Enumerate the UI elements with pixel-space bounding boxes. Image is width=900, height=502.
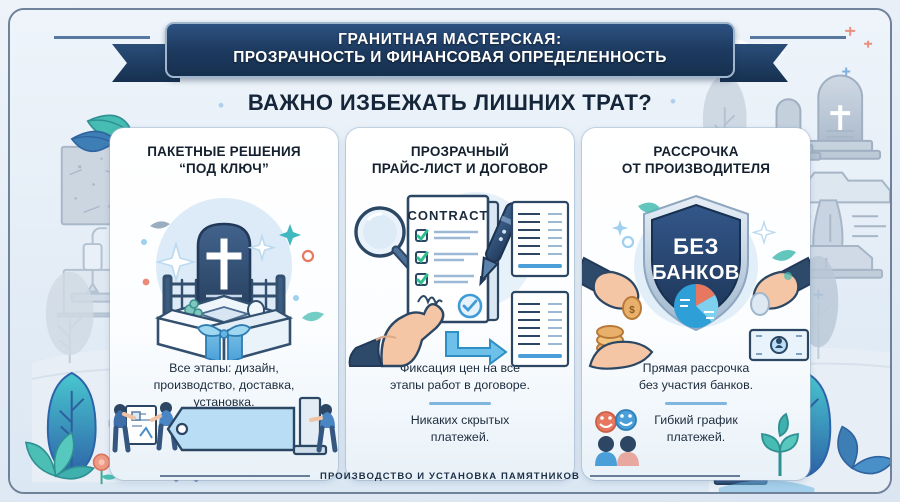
svg-text:$: $	[629, 305, 635, 316]
card-3-illustration: БЕЗ БАНКОВ $	[582, 180, 810, 360]
title-line-2: ПРОЗРАЧНОСТЬ И ФИНАНСОВАЯ ОПРЕДЕЛЕННОСТЬ	[233, 48, 667, 67]
infographic-frame: ГРАНИТНАЯ МАСТЕРСКАЯ: ПРОЗРАЧНОСТЬ И ФИН…	[8, 8, 892, 494]
card-manufacturer-installment[interactable]: РАССРОЧКА ОТ ПРОИЗВОДИТЕЛЯ	[582, 128, 810, 480]
page-subtitle: ВАЖНО ИЗБЕЖАТЬ ЛИШНИХ ТРАТ?	[10, 90, 890, 116]
card-2-illustration: CONTRACT	[346, 180, 574, 360]
card-1-heading: ПАКЕТНЫЕ РЕШЕНИЯ “ПОД КЛЮЧ”	[147, 143, 301, 178]
card-packaged-solutions[interactable]: ПАКЕТНЫЕ РЕШЕНИЯ “ПОД КЛЮЧ”	[110, 128, 338, 480]
avatar-right	[617, 436, 639, 466]
pie-chart	[674, 284, 718, 328]
card-3-divider	[665, 402, 727, 405]
card-2-caption-secondary: Никаких скрытых платежей.	[397, 412, 524, 446]
shield-text-line-1: БЕЗ	[673, 234, 719, 259]
title-ribbon-wrap: ГРАНИТНАЯ МАСТЕРСКАЯ: ПРОЗРАЧНОСТЬ И ФИН…	[10, 16, 890, 84]
ribbon-left-line	[54, 36, 150, 39]
card-2-divider	[429, 402, 491, 405]
card-2-heading: ПРОЗРАЧНЫЙ ПРАЙС-ЛИСТ И ДОГОВОР	[372, 143, 548, 178]
title-line-1: ГРАНИТНАЯ МАСТЕРСКАЯ:	[338, 32, 562, 48]
card-1-illustration	[110, 180, 338, 360]
card-transparent-pricing[interactable]: ПРОЗРАЧНЫЙ ПРАЙС-ЛИСТ И ДОГОВОР	[346, 128, 574, 480]
title-banner: ГРАНИТНАЯ МАСТЕРСКАЯ: ПРОЗРАЧНОСТЬ И ФИН…	[165, 22, 735, 78]
avatar-left	[595, 436, 617, 466]
card-3-heading: РАССРОЧКА ОТ ПРОИЗВОДИТЕЛЯ	[622, 143, 770, 178]
contract-title: CONTRACT	[408, 208, 489, 223]
ribbon-right-line	[750, 36, 846, 39]
hand-with-coin-right	[751, 258, 810, 315]
shield-text-line-2: БАНКОВ	[652, 262, 740, 284]
banknote	[750, 330, 808, 360]
footer-rule-left	[160, 475, 310, 477]
hand-with-coin-left: $	[582, 258, 641, 319]
footer-text: ПРОИЗВОДСТВО И УСТАНОВКА ПАМЯТНИКОВ	[320, 471, 580, 482]
cards-row: ПАКЕТНЫЕ РЕШЕНИЯ “ПОД КЛЮЧ”	[110, 128, 810, 480]
footer-rule-right	[590, 475, 740, 477]
footer-bar: ПРОИЗВОДСТВО И УСТАНОВКА ПАМЯТНИКОВ	[10, 466, 890, 486]
